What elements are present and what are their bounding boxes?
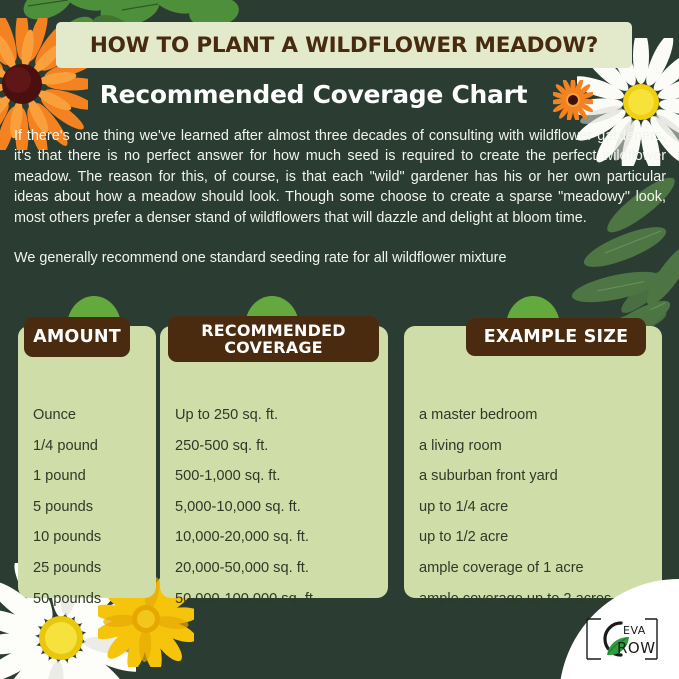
table-cell: 250-500 sq. ft. (175, 431, 388, 462)
table-cell: 500-1,000 sq. ft. (175, 461, 388, 492)
table-cell: ample coverage of 1 acre (419, 553, 662, 584)
table-cell: 50,000-100,000 sq. ft. (175, 584, 388, 615)
table-cell: a master bedroom (419, 400, 662, 431)
coverage-table: Ounce 1/4 pound 1 pound 5 pounds 10 poun… (0, 296, 679, 606)
table-cell: 5 pounds (33, 492, 156, 523)
table-cell: 1 pound (33, 461, 156, 492)
brand-logo: EVA ROW (579, 611, 667, 667)
column-header-example: EXAMPLE SIZE (466, 318, 646, 356)
table-cell: 5,000-10,000 sq. ft. (175, 492, 388, 523)
table-cell: 50 pounds (33, 584, 156, 615)
column-coverage-cells: Up to 250 sq. ft. 250-500 sq. ft. 500-1,… (160, 400, 388, 614)
title-banner: HOW TO PLANT A WILDFLOWER MEADOW? (56, 22, 632, 68)
table-cell: 20,000-50,000 sq. ft. (175, 553, 388, 584)
column-header-amount: AMOUNT (24, 317, 130, 357)
column-example: a master bedroom a living room a suburba… (404, 326, 662, 598)
page-title: HOW TO PLANT A WILDFLOWER MEADOW? (90, 33, 598, 58)
column-example-cells: a master bedroom a living room a suburba… (404, 400, 662, 614)
logo-text-eva: EVA (623, 624, 646, 637)
paragraph-2: We generally recommend one standard seed… (14, 248, 666, 268)
table-cell: 10,000-20,000 sq. ft. (175, 522, 388, 553)
table-cell: 25 pounds (33, 553, 156, 584)
paragraph-1: If there's one thing we've learned after… (14, 126, 666, 228)
intro-text: If there's one thing we've learned after… (14, 126, 666, 268)
table-cell: up to 1/4 acre (419, 492, 662, 523)
table-cell: 10 pounds (33, 522, 156, 553)
column-header-coverage: RECOMMENDED COVERAGE (168, 316, 379, 362)
logo-text-grow: ROW (617, 639, 656, 657)
table-cell: Up to 250 sq. ft. (175, 400, 388, 431)
table-cell: 1/4 pound (33, 431, 156, 462)
page-subtitle: Recommended Coverage Chart (0, 80, 679, 109)
table-cell: Ounce (33, 400, 156, 431)
table-cell: a suburban front yard (419, 461, 662, 492)
infographic-poster: HOW TO PLANT A WILDFLOWER MEADOW? Recomm… (0, 0, 679, 679)
column-amount-cells: Ounce 1/4 pound 1 pound 5 pounds 10 poun… (18, 400, 156, 614)
table-cell: a living room (419, 431, 662, 462)
table-cell: up to 1/2 acre (419, 522, 662, 553)
column-coverage: Up to 250 sq. ft. 250-500 sq. ft. 500-1,… (160, 326, 388, 598)
column-amount: Ounce 1/4 pound 1 pound 5 pounds 10 poun… (18, 326, 156, 598)
